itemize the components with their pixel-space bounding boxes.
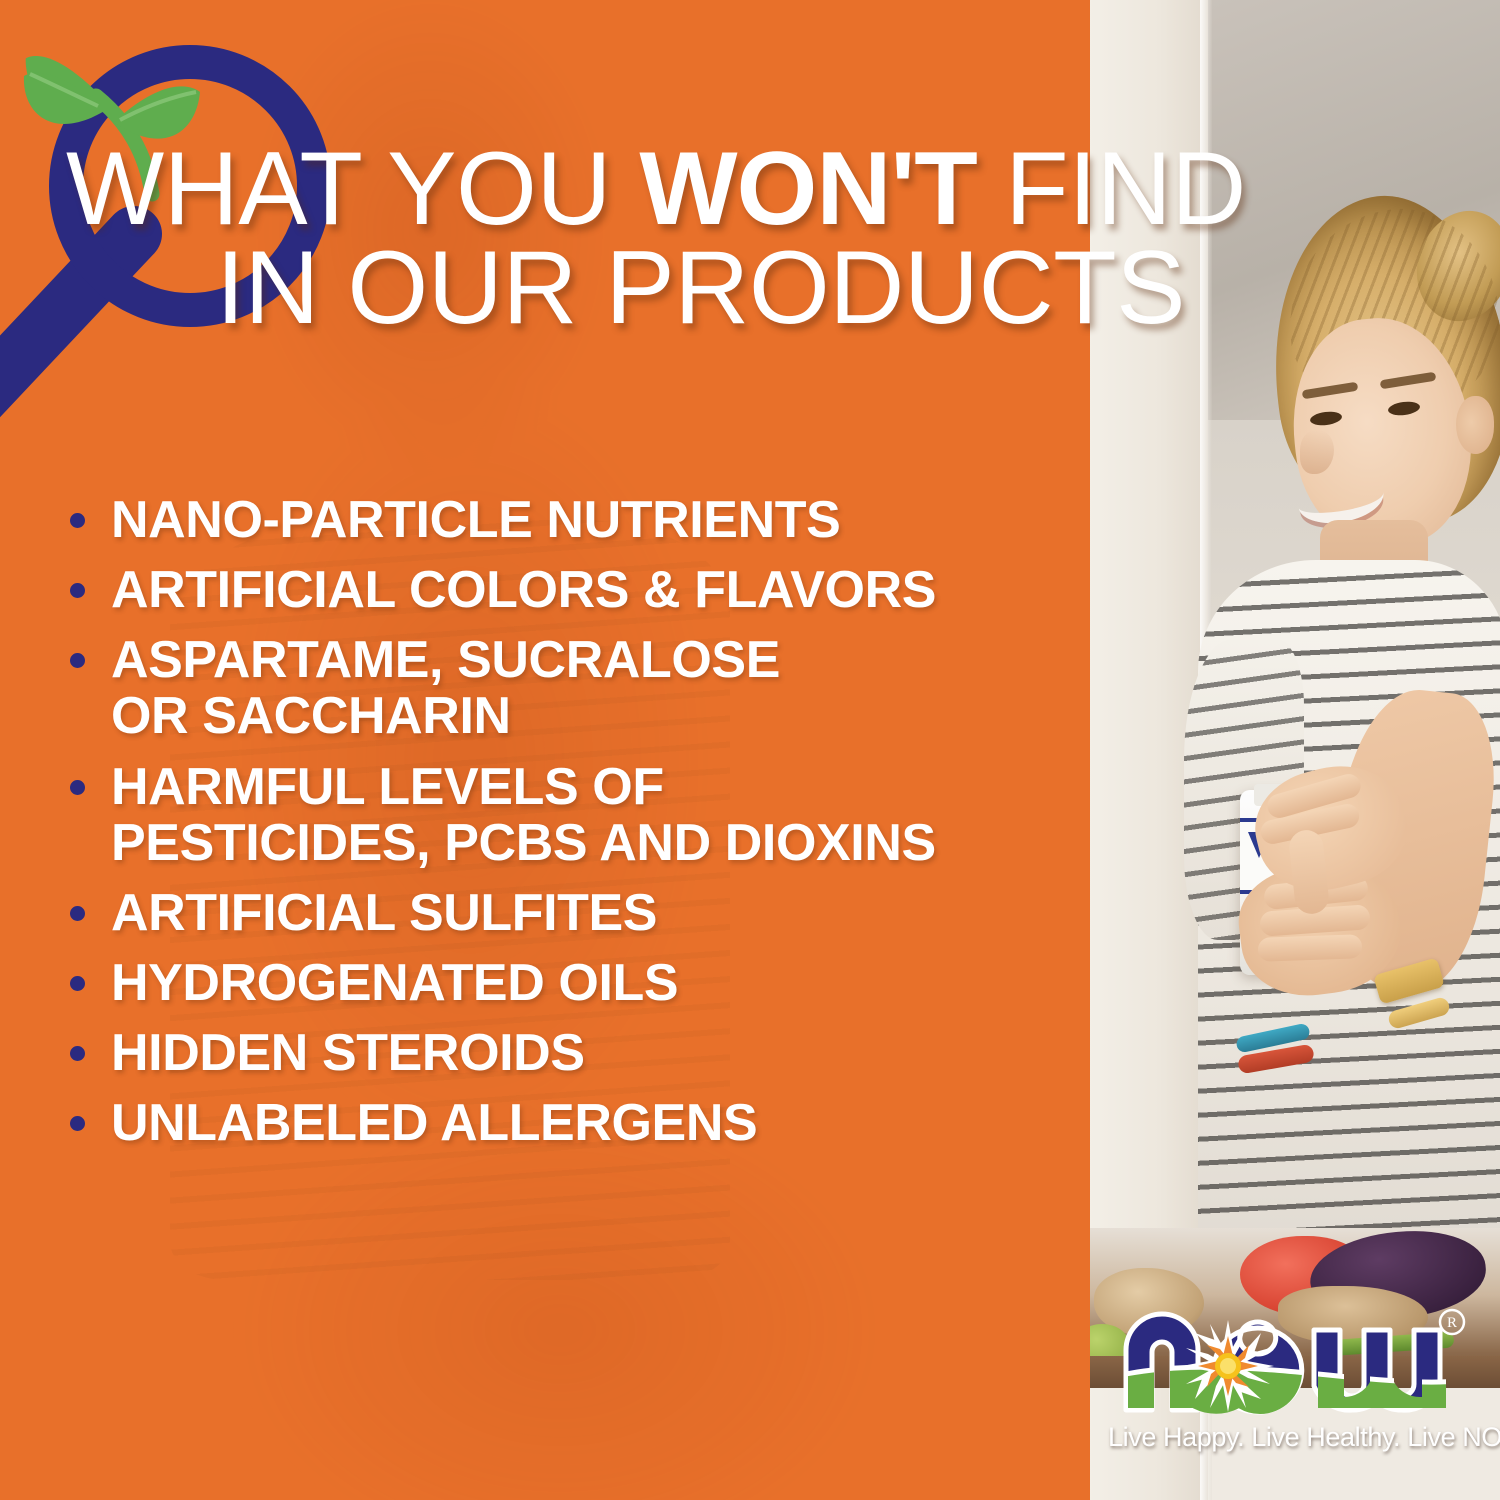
bullet-dot-icon xyxy=(70,653,85,668)
headline-line-2: IN OUR PRODUCTS xyxy=(216,239,1466,338)
list-item-text: ARTIFICIAL SULFITES xyxy=(111,885,657,941)
list-item-line-1: ARTIFICIAL SULFITES xyxy=(111,884,657,942)
list-item-text: NANO-PARTICLE NUTRIENTS xyxy=(111,492,840,548)
bullet-dot-icon xyxy=(70,976,85,991)
list-item-text: ARTIFICIAL COLORS & FLAVORS xyxy=(111,562,936,618)
list-item-line-1: NANO-PARTICLE NUTRIENTS xyxy=(111,491,840,549)
list-item: ASPARTAME, SUCRALOSE OR SACCHARIN xyxy=(70,632,1070,744)
page-title: WHAT YOU WON'T FIND IN OUR PRODUCTS xyxy=(66,140,1466,338)
list-item-text: HIDDEN STEROIDS xyxy=(111,1025,585,1081)
list-item-text: ASPARTAME, SUCRALOSE OR SACCHARIN xyxy=(111,632,780,744)
list-item-text: HYDROGENATED OILS xyxy=(111,955,678,1011)
list-item-line-1: ASPARTAME, SUCRALOSE xyxy=(111,631,780,689)
bullet-dot-icon xyxy=(70,1116,85,1131)
bullet-dot-icon xyxy=(70,513,85,528)
bullet-dot-icon xyxy=(70,583,85,598)
now-brand-logo: R Live Happy. Live Healthy. Live NOW. xyxy=(1108,1300,1468,1480)
list-item: ARTIFICIAL COLORS & FLAVORS xyxy=(70,562,1070,618)
list-item: HIDDEN STEROIDS xyxy=(70,1025,1070,1081)
registered-trademark-icon: R xyxy=(1440,1310,1464,1334)
list-item: UNLABELED ALLERGENS xyxy=(70,1095,1070,1151)
list-item-line-1: ARTIFICIAL COLORS & FLAVORS xyxy=(111,561,936,619)
list-item: NANO-PARTICLE NUTRIENTS xyxy=(70,492,1070,548)
svg-text:R: R xyxy=(1447,1315,1457,1331)
list-item-line-1: UNLABELED ALLERGENS xyxy=(111,1094,757,1152)
list-item-line-2: OR SACCHARIN xyxy=(111,688,780,744)
photo-ear xyxy=(1456,396,1494,454)
list-item-line-1: HYDROGENATED OILS xyxy=(111,954,678,1012)
list-item-line-1: HIDDEN STEROIDS xyxy=(111,1024,585,1082)
bullet-dot-icon xyxy=(70,906,85,921)
list-item-text: UNLABELED ALLERGENS xyxy=(111,1095,757,1151)
list-item-line-2: PESTICIDES, PCBS AND DIOXINS xyxy=(111,815,936,871)
poster-canvas: WHAT YOU WON'T FIND IN OUR PRODUCTS NANO… xyxy=(0,0,1500,1500)
list-item: ARTIFICIAL SULFITES xyxy=(70,885,1070,941)
exclusion-list: NANO-PARTICLE NUTRIENTS ARTIFICIAL COLOR… xyxy=(70,492,1070,1166)
bullet-dot-icon xyxy=(70,1046,85,1061)
list-item-line-1: HARMFUL LEVELS OF xyxy=(111,758,664,816)
brand-tagline: Live Happy. Live Healthy. Live NOW. xyxy=(1108,1422,1468,1453)
list-item: HARMFUL LEVELS OF PESTICIDES, PCBS AND D… xyxy=(70,759,1070,871)
headline-line-1: WHAT YOU WON'T FIND xyxy=(66,140,1466,239)
photo-finger-3 xyxy=(1258,934,1363,962)
list-item: HYDROGENATED OILS xyxy=(70,955,1070,1011)
list-item-text: HARMFUL LEVELS OF PESTICIDES, PCBS AND D… xyxy=(111,759,936,871)
bullet-dot-icon xyxy=(70,780,85,795)
